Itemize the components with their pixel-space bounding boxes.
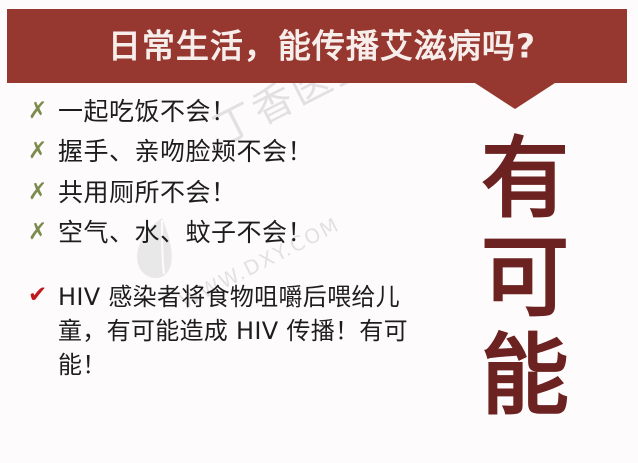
list-item: ✗ 空气、水、蚊子不会！ — [28, 217, 448, 248]
header-banner: 日常生活，能传播艾滋病吗? — [7, 9, 627, 83]
answer-char: 能 — [470, 327, 580, 426]
no-transmission-list: ✗ 一起吃饭不会！ ✗ 握手、亲吻脸颊不会！ ✗ 共用厕所不会！ ✗ 空气、水、… — [28, 96, 448, 248]
transmission-warning-note: ✔ HIV 感染者将食物咀嚼后喂给儿童，有可能造成 HIV 传播！有可能！ — [28, 280, 448, 382]
poster-root: 丁香医生 WWW.DXY.COM 日常生活，能传播艾滋病吗? ✗ 一起吃饭不会！… — [0, 0, 638, 463]
list-item-label: 握手、亲吻脸颊不会！ — [58, 136, 448, 167]
list-item-label: 一起吃饭不会！ — [58, 96, 448, 127]
banner-arrow-tail-icon — [475, 83, 555, 109]
list-item-label: 共用厕所不会！ — [58, 177, 448, 208]
note-text: HIV 感染者将食物咀嚼后喂给儿童，有可能造成 HIV 传播！有可能！ — [58, 280, 448, 382]
list-item: ✗ 一起吃饭不会！ — [28, 96, 448, 127]
list-item: ✗ 握手、亲吻脸颊不会！ — [28, 136, 448, 167]
list-item: ✗ 共用厕所不会！ — [28, 177, 448, 208]
cross-mark-icon: ✗ — [28, 136, 58, 167]
cross-mark-icon: ✗ — [28, 96, 58, 127]
check-mark-icon: ✔ — [28, 280, 58, 311]
page-title: 日常生活，能传播艾滋病吗? — [7, 30, 627, 63]
answer-char: 有 — [470, 130, 580, 229]
list-item-label: 空气、水、蚊子不会！ — [58, 217, 448, 248]
answer-vertical-text: 有 可 能 — [470, 130, 580, 426]
cross-mark-icon: ✗ — [28, 177, 58, 208]
answer-char: 可 — [470, 229, 580, 328]
content-left-column: ✗ 一起吃饭不会！ ✗ 握手、亲吻脸颊不会！ ✗ 共用厕所不会！ ✗ 空气、水、… — [28, 96, 448, 382]
cross-mark-icon: ✗ — [28, 217, 58, 248]
